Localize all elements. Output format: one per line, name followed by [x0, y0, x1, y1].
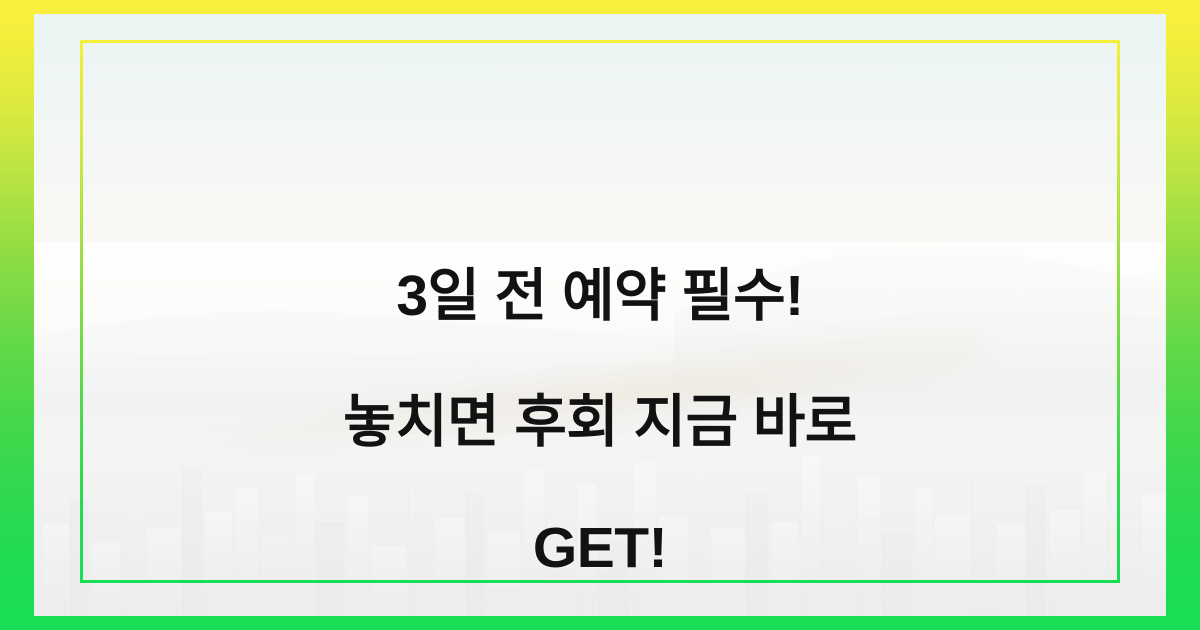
- headline-line-2: 놓치면 후회 지금 바로: [0, 391, 1200, 454]
- page-title: 3일 전 예약 필수! 놓치면 후회 지금 바로 GET!: [0, 202, 1200, 630]
- headline-line-1: 3일 전 예약 필수!: [0, 265, 1200, 328]
- headline-line-3: GET!: [0, 517, 1200, 580]
- poster-canvas: 3일 전 예약 필수! 놓치면 후회 지금 바로 GET!: [0, 0, 1200, 630]
